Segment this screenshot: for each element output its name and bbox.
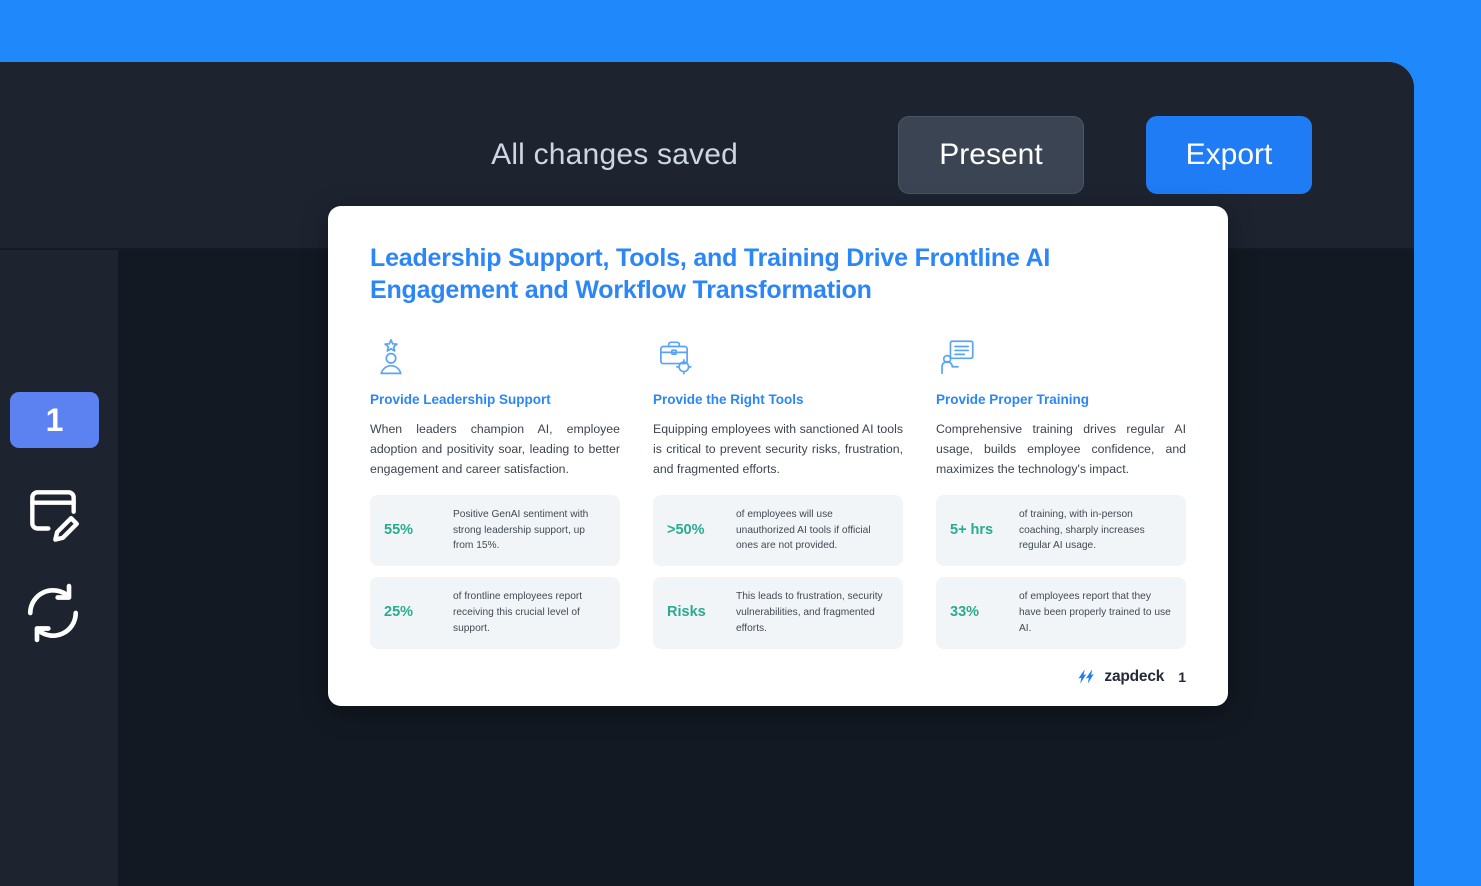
column-body: Comprehensive training drives regular AI…	[936, 420, 1186, 480]
column-body: When leaders champion AI, employee adopt…	[370, 420, 620, 480]
briefcase-with-gear-icon	[653, 336, 903, 378]
slide-footer: zapdeck 1	[1076, 667, 1186, 686]
presentation-board-icon	[936, 336, 1186, 378]
edit-slide-icon[interactable]	[22, 482, 84, 544]
stat-box: 25% of frontline employees report receiv…	[370, 577, 620, 648]
stat-value: 55%	[384, 521, 442, 540]
brand-name: zapdeck	[1104, 668, 1164, 686]
stat-label: of employees will use unauthorized AI to…	[736, 507, 889, 554]
stat-value: 33%	[950, 603, 1008, 622]
column-heading: Provide Leadership Support	[370, 392, 620, 407]
regenerate-icon[interactable]	[22, 582, 84, 644]
stat-box: 5+ hrs of training, with in-person coach…	[936, 495, 1186, 566]
app-shell: All changes saved Present Export 1 Leade…	[0, 62, 1414, 886]
zapdeck-logo-icon	[1076, 667, 1095, 686]
slide-rail: 1	[0, 250, 118, 886]
column-heading: Provide Proper Training	[936, 392, 1186, 407]
slide-page[interactable]: Leadership Support, Tools, and Training …	[328, 206, 1228, 706]
stat-label: of frontline employees report receiving …	[453, 589, 606, 636]
slide-title: Leadership Support, Tools, and Training …	[370, 242, 1100, 306]
stat-box: 55% Positive GenAI sentiment with strong…	[370, 495, 620, 566]
column-proper-training: Provide Proper Training Comprehensive tr…	[936, 336, 1186, 660]
save-status-text: All changes saved	[491, 138, 738, 172]
column-right-tools: Provide the Right Tools Equipping employ…	[653, 336, 903, 660]
slide-page-number: 1	[1178, 669, 1186, 685]
column-body: Equipping employees with sanctioned AI t…	[653, 420, 903, 480]
column-heading: Provide the Right Tools	[653, 392, 903, 407]
stat-value: >50%	[667, 521, 725, 540]
stat-value: 5+ hrs	[950, 521, 1008, 540]
present-button[interactable]: Present	[898, 116, 1084, 194]
stat-label: This leads to frustration, security vuln…	[736, 589, 889, 636]
column-leadership-support: Provide Leadership Support When leaders …	[370, 336, 620, 660]
stat-label: Positive GenAI sentiment with strong lea…	[453, 507, 606, 554]
stat-value: Risks	[667, 603, 725, 622]
export-button[interactable]: Export	[1146, 116, 1312, 194]
stat-box: Risks This leads to frustration, securit…	[653, 577, 903, 648]
person-with-star-icon	[370, 336, 620, 378]
slide-columns: Provide Leadership Support When leaders …	[370, 336, 1186, 660]
stat-label: of training, with in-person coaching, sh…	[1019, 507, 1172, 554]
stat-box: 33% of employees report that they have b…	[936, 577, 1186, 648]
slide-thumbnail-1[interactable]: 1	[10, 392, 99, 448]
stat-value: 25%	[384, 603, 442, 622]
stat-box: >50% of employees will use unauthorized …	[653, 495, 903, 566]
stat-label: of employees report that they have been …	[1019, 589, 1172, 636]
